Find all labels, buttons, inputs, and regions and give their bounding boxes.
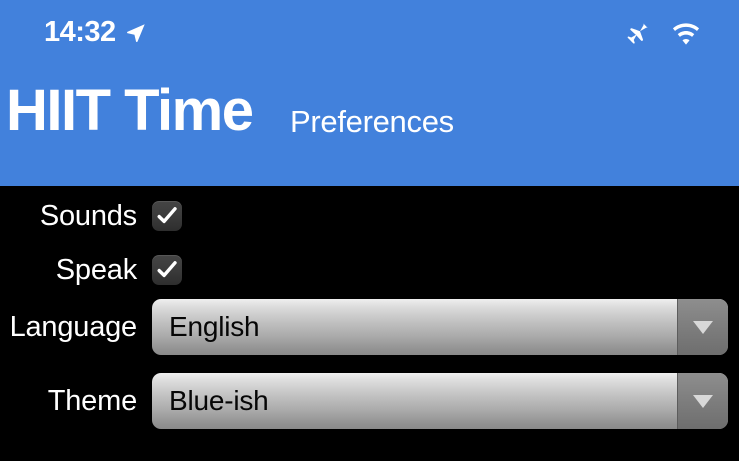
location-arrow-icon — [125, 22, 147, 44]
page-title: Preferences — [290, 106, 454, 137]
setting-row-language: Language English — [0, 296, 739, 358]
language-select[interactable]: English — [152, 299, 728, 355]
setting-label-theme: Theme — [0, 387, 137, 416]
theme-select[interactable]: Blue-ish — [152, 373, 728, 429]
setting-row-speak: Speak — [0, 248, 739, 292]
language-select-arrow-button[interactable] — [677, 299, 728, 355]
chevron-down-icon — [693, 321, 713, 334]
speak-checkbox[interactable] — [152, 255, 182, 285]
app-header: 14:32 — [0, 0, 739, 186]
theme-select-arrow-button[interactable] — [677, 373, 728, 429]
app-screen: 14:32 — [0, 0, 739, 461]
setting-label-speak: Speak — [0, 256, 137, 285]
title-block: HIIT Time Preferences — [0, 68, 739, 186]
status-bar-left: 14:32 — [44, 18, 147, 47]
status-bar: 14:32 — [0, 0, 739, 62]
checkmark-icon — [155, 204, 179, 228]
setting-row-theme: Theme Blue-ish — [0, 370, 739, 432]
preferences-form: Sounds Speak Language English — [0, 186, 739, 461]
wifi-icon — [672, 22, 700, 50]
setting-row-sounds: Sounds — [0, 194, 739, 238]
sounds-checkbox[interactable] — [152, 201, 182, 231]
airplane-mode-icon — [626, 22, 654, 50]
chevron-down-icon — [693, 395, 713, 408]
status-clock: 14:32 — [44, 18, 116, 47]
language-select-value: English — [152, 313, 259, 341]
setting-label-language: Language — [0, 313, 137, 342]
setting-label-sounds: Sounds — [0, 202, 137, 231]
checkmark-icon — [155, 258, 179, 282]
theme-select-value: Blue-ish — [152, 387, 269, 415]
app-title: HIIT Time — [6, 82, 252, 140]
status-bar-right — [626, 22, 700, 50]
